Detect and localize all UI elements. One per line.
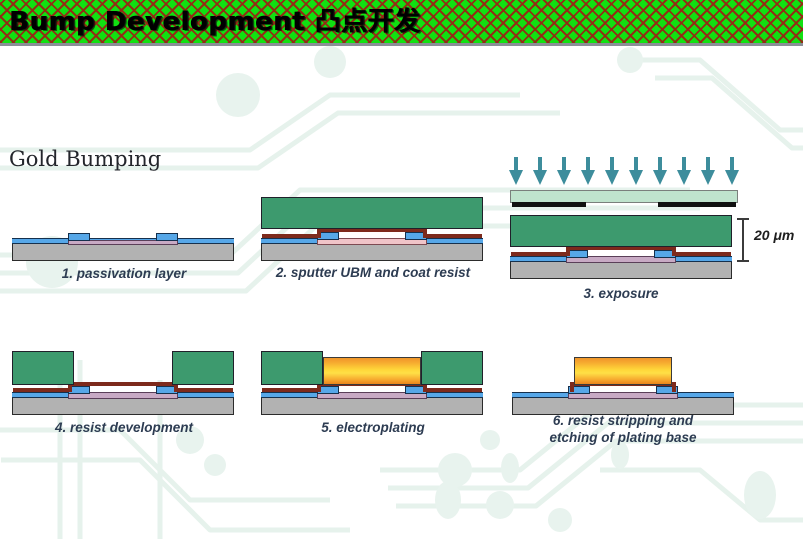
ubm-layer-left	[262, 234, 318, 238]
ubm-layer-left	[262, 388, 318, 392]
exposure-light-arrow	[629, 157, 643, 185]
mask-chrome-left	[512, 202, 586, 207]
section-heading: Gold Bumping	[9, 147, 161, 171]
step-4-stack	[12, 351, 234, 415]
step-5-caption: 5. electroplating	[251, 419, 495, 436]
gold-bump-plated	[323, 357, 421, 385]
step-6-diagram: 6. resist stripping and etching of plati…	[512, 357, 734, 415]
ubm-layer-right	[178, 388, 233, 392]
dimension-label: 20 μm	[754, 227, 794, 243]
dimension-cap-bottom	[737, 260, 749, 262]
ubm-riser-right	[423, 228, 427, 238]
dimension-line	[742, 219, 744, 261]
step-5-stack	[261, 351, 483, 415]
step-2-stack	[261, 197, 483, 261]
photoresist-remaining-right	[172, 351, 234, 385]
step-1-caption: 1. passivation layer	[2, 265, 246, 282]
step-2-diagram: 2. sputter UBM and coat resist	[261, 197, 483, 261]
exposure-light-arrow	[509, 157, 523, 185]
photoresist-remaining-left	[261, 351, 323, 385]
exposure-light-arrow	[725, 157, 739, 185]
ubm-riser-left	[317, 228, 321, 238]
step-4-diagram: 4. resist development	[12, 351, 234, 415]
photoresist-remaining-left	[12, 351, 74, 385]
step-1-diagram: 1. passivation layer	[12, 228, 234, 261]
step-6-stack	[512, 357, 734, 415]
ubm-layer-left	[13, 388, 69, 392]
passivation-step-right	[156, 233, 178, 241]
step-4-caption: 4. resist development	[2, 419, 246, 436]
step-3-stack	[510, 215, 732, 279]
passivation-step-left	[68, 233, 90, 241]
step-5-diagram: 5. electroplating	[261, 351, 483, 415]
step-3-caption: 3. exposure	[499, 285, 743, 302]
ubm-layer-right	[427, 388, 482, 392]
ubm-layer-center	[68, 382, 178, 386]
photomask	[510, 190, 738, 208]
ubm-layer-left	[511, 252, 567, 256]
exposure-light-arrow	[605, 157, 619, 185]
ubm-layer-right	[676, 252, 731, 256]
photoresist-layer	[261, 197, 483, 229]
photoresist-remaining-right	[421, 351, 483, 385]
exposure-light-arrow	[701, 157, 715, 185]
exposure-light-arrow	[653, 157, 667, 185]
mask-chrome-right	[658, 202, 736, 207]
ubm-riser-right	[672, 382, 676, 392]
ubm-riser-right	[672, 246, 676, 256]
photoresist-layer	[510, 215, 732, 247]
ubm-riser-left	[566, 246, 570, 256]
ubm-layer-right	[427, 234, 482, 238]
exposure-light-arrow	[557, 157, 571, 185]
exposure-arrow-row	[509, 157, 739, 185]
step-2-caption: 2. sputter UBM and coat resist	[251, 264, 495, 281]
exposure-light-arrow	[533, 157, 547, 185]
page-title: Bump Development 凸点开发	[9, 9, 420, 35]
step-1-stack	[12, 228, 234, 261]
exposure-light-arrow	[581, 157, 595, 185]
step-6-caption: 6. resist stripping and etching of plati…	[498, 412, 748, 446]
slide-title-bar: Bump Development 凸点开发	[0, 0, 803, 46]
exposure-light-arrow	[677, 157, 691, 185]
gold-bump-final	[574, 357, 672, 385]
